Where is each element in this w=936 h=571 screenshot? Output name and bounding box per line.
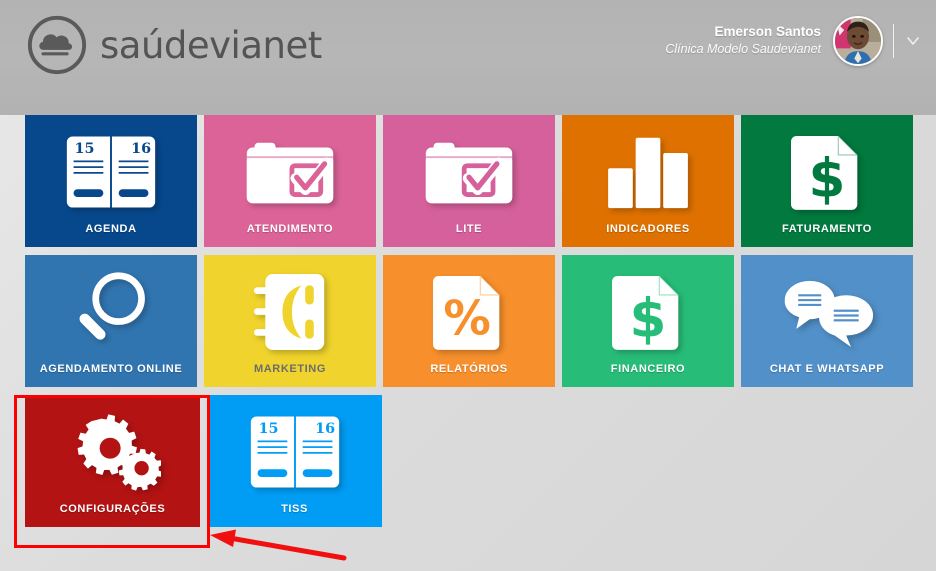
document-dollar-icon: $ xyxy=(562,255,734,363)
bar-chart-icon xyxy=(562,115,734,223)
tile-agendamento-online[interactable]: AGENDAMENTO ONLINE xyxy=(25,255,197,387)
user-menu[interactable]: Emerson Santos Clínica Modelo Saudeviane… xyxy=(665,16,922,66)
svg-text:$: $ xyxy=(809,148,846,210)
tile-atendimento[interactable]: ATENDIMENTO xyxy=(204,115,376,247)
tile-relatorios[interactable]: % RELATÓRIOS xyxy=(383,255,555,387)
tile-label: AGENDA xyxy=(85,223,136,247)
tile-label: FINANCEIRO xyxy=(611,363,685,387)
tile-label: AGENDAMENTO ONLINE xyxy=(40,363,183,387)
tile-financeiro[interactable]: $ FINANCEIRO xyxy=(562,255,734,387)
tile-agenda[interactable]: 15 16 AGENDA xyxy=(25,115,197,247)
svg-text:%: % xyxy=(443,292,490,347)
folder-check-icon xyxy=(383,115,555,223)
brand-name: saúdevianet xyxy=(100,27,322,64)
tile-label: LITE xyxy=(456,223,482,247)
agenda-book-icon: 15 16 xyxy=(25,115,197,223)
document-dollar-icon: $ xyxy=(741,115,913,223)
svg-text:$: $ xyxy=(630,288,667,350)
brand-logo-group[interactable]: saúdevianet xyxy=(26,14,322,76)
tile-label: RELATÓRIOS xyxy=(430,363,507,387)
user-name: Emerson Santos xyxy=(665,24,821,41)
tile-indicadores[interactable]: INDICADORES xyxy=(562,115,734,247)
tile-faturamento[interactable]: $ FATURAMENTO xyxy=(741,115,913,247)
app-header: saúdevianet Emerson Santos Clínica Model… xyxy=(0,0,936,115)
tile-label: TISS xyxy=(281,503,308,527)
svg-text:15: 15 xyxy=(258,420,278,437)
tile-marketing[interactable]: MARKETING xyxy=(204,255,376,387)
tile-label: MARKETING xyxy=(254,363,326,387)
tile-lite[interactable]: LITE xyxy=(383,115,555,247)
svg-text:15: 15 xyxy=(75,140,95,157)
magnifier-icon xyxy=(25,255,197,363)
user-menu-divider xyxy=(893,24,894,58)
user-organization: Clínica Modelo Saudevianet xyxy=(665,41,821,57)
avatar[interactable] xyxy=(833,16,883,66)
tile-chat-whatsapp[interactable]: CHAT E WHATSAPP xyxy=(741,255,913,387)
tile-row-2: AGENDAMENTO ONLINE MARKETING xyxy=(25,255,913,387)
tile-configuracoes[interactable]: CONFIGURAÇÕES xyxy=(25,395,200,527)
chat-bubbles-icon xyxy=(741,255,913,363)
tile-row-1: 15 16 AGENDA xyxy=(25,115,913,247)
tile-tiss[interactable]: 15 16 TISS xyxy=(207,395,382,527)
document-percent-icon: % xyxy=(383,255,555,363)
gears-icon xyxy=(25,395,200,503)
tile-label: FATURAMENTO xyxy=(782,223,872,247)
tile-row-3: CONFIGURAÇÕES 15 16 TISS xyxy=(25,395,913,527)
user-info: Emerson Santos Clínica Modelo Saudeviane… xyxy=(665,24,823,57)
folder-check-icon xyxy=(204,115,376,223)
tile-label: INDICADORES xyxy=(606,223,690,247)
tile-label: ATENDIMENTO xyxy=(247,223,333,247)
tile-label: CONFIGURAÇÕES xyxy=(60,503,166,527)
cloud-circle-icon xyxy=(26,14,88,76)
chevron-down-icon[interactable] xyxy=(904,32,922,50)
agenda-book-icon: 15 16 xyxy=(207,395,382,503)
tile-label: CHAT E WHATSAPP xyxy=(770,363,884,387)
module-tile-grid: 15 16 AGENDA xyxy=(25,115,913,535)
svg-text:16: 16 xyxy=(131,140,151,157)
svg-text:16: 16 xyxy=(315,420,335,437)
address-book-phone-icon xyxy=(204,255,376,363)
